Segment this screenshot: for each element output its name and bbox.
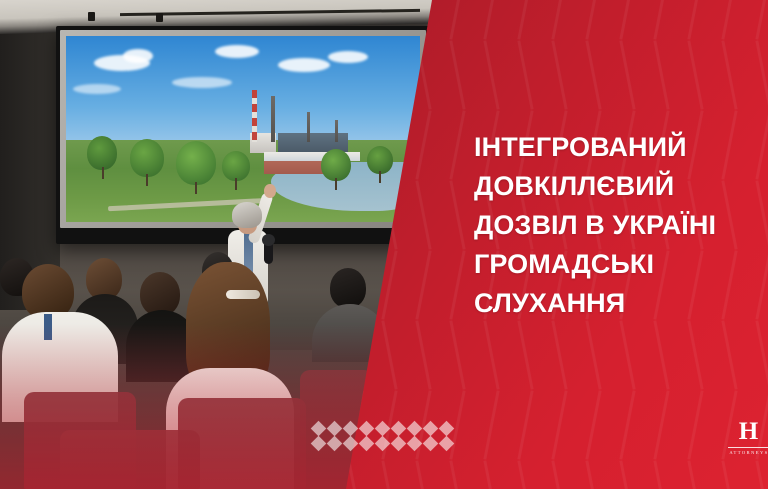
- chevron-stroke: [653, 0, 669, 40]
- chair: [178, 398, 306, 489]
- diamond-icon: [438, 421, 454, 437]
- diamond-icon: [342, 436, 358, 452]
- page-title-line-1: ІНТЕГРОВАНИЙ: [474, 128, 768, 167]
- chevron-stroke: [755, 460, 768, 489]
- chevron-stroke: [619, 40, 635, 109]
- logo-subtitle: ATTORNEYS: [726, 450, 768, 455]
- chevron-stroke: [755, 40, 768, 109]
- chevron-stroke: [653, 390, 669, 459]
- smokestack-tiny: [335, 120, 338, 142]
- diamond-icon: [390, 436, 406, 452]
- chevron-stroke: [551, 320, 567, 389]
- audience-lanyard: [44, 314, 52, 340]
- chevron-stroke: [483, 390, 499, 459]
- diamond-icon: [310, 421, 326, 437]
- chevron-stroke: [415, 250, 431, 319]
- chevron-stroke: [585, 0, 601, 40]
- chevron-stroke: [585, 460, 601, 489]
- tree: [321, 149, 351, 181]
- brand-logo: H ATTORNEYS: [726, 419, 768, 455]
- logo-divider: [728, 447, 768, 448]
- tree: [130, 139, 164, 177]
- page-title-line-2: ДОВКІЛЛЄВИЙ: [474, 167, 768, 206]
- diamond-icon: [374, 421, 390, 437]
- diamond-icon: [310, 436, 326, 452]
- chevron-stroke: [721, 0, 737, 40]
- chevron-stroke: [653, 460, 669, 489]
- chevron-stroke: [721, 320, 737, 389]
- diamond-decoration: [310, 421, 454, 451]
- diamond-icon: [406, 436, 422, 452]
- diamond-icon: [326, 436, 342, 452]
- chevron-stroke: [619, 460, 635, 489]
- chevron-stroke: [585, 40, 601, 109]
- presenter-hand: [264, 184, 276, 198]
- page-title-line-3: ДОЗВІЛ В УКРАЇНІ: [474, 206, 768, 245]
- diamond-icon: [438, 436, 454, 452]
- chevron-stroke: [687, 390, 703, 459]
- chevron-stroke: [381, 460, 397, 489]
- chevron-stroke: [755, 320, 768, 389]
- chevron-stroke: [483, 320, 499, 389]
- chevron-stroke: [449, 320, 465, 389]
- chevron-stroke: [517, 390, 533, 459]
- cloud-icon: [172, 77, 232, 88]
- audience-head: [330, 268, 366, 308]
- chevron-stroke: [551, 460, 567, 489]
- presenter-hair: [232, 202, 262, 228]
- chevron-stroke: [381, 320, 397, 389]
- page-title: ІНТЕГРОВАНИЙДОВКІЛЛЄВИЙДОЗВІЛ В УКРАЇНІГ…: [474, 128, 768, 322]
- screen-content-industrial-plant: [66, 36, 420, 222]
- chevron-stroke: [517, 0, 533, 40]
- chevron-stroke: [585, 390, 601, 459]
- chevron-stroke: [585, 320, 601, 389]
- page-title-line-4: ГРОМАДСЬКІ: [474, 245, 768, 284]
- diamond-icon: [326, 421, 342, 437]
- chevron-stroke: [449, 0, 465, 40]
- chevron-stroke: [517, 40, 533, 109]
- chevron-stroke: [619, 0, 635, 40]
- chevron-stroke: [449, 460, 465, 489]
- conference-banner: ІНТЕГРОВАНИЙДОВКІЛЛЄВИЙДОЗВІЛ В УКРАЇНІГ…: [0, 0, 768, 489]
- tree: [367, 146, 393, 174]
- diamond-icon: [406, 421, 422, 437]
- chevron-stroke: [415, 460, 431, 489]
- chevron-stroke: [415, 110, 431, 179]
- smokestack-small: [307, 112, 310, 142]
- chevron-stroke: [551, 390, 567, 459]
- chevron-stroke: [721, 460, 737, 489]
- logo-monogram: H: [726, 419, 768, 444]
- chevron-stroke: [619, 320, 635, 389]
- hair-clip: [226, 290, 260, 299]
- chevron-stroke: [687, 40, 703, 109]
- diamond-icon: [390, 421, 406, 437]
- chevron-stroke: [551, 40, 567, 109]
- rail-mount-right: [156, 13, 163, 22]
- diamond-icon: [422, 436, 438, 452]
- chevron-stroke: [415, 320, 431, 389]
- chevron-stroke: [483, 40, 499, 109]
- chevron-stroke: [449, 180, 465, 249]
- tree: [176, 141, 216, 185]
- diamond-icon: [342, 421, 358, 437]
- chevron-stroke: [517, 460, 533, 489]
- chevron-stroke: [619, 390, 635, 459]
- chevron-stroke: [517, 320, 533, 389]
- chevron-stroke: [653, 320, 669, 389]
- diamond-icon: [422, 421, 438, 437]
- chevron-stroke: [755, 0, 768, 40]
- chevron-stroke: [687, 320, 703, 389]
- smokestack-grey: [271, 96, 275, 142]
- cloud-icon: [123, 49, 153, 63]
- chevron-stroke: [449, 40, 465, 109]
- diamond-icon: [358, 436, 374, 452]
- microphone-head: [262, 234, 275, 246]
- chevron-stroke: [415, 180, 431, 249]
- smokestack-striped: [252, 90, 257, 142]
- diamond-icon: [358, 421, 374, 437]
- chevron-stroke: [483, 460, 499, 489]
- chevron-stroke: [687, 460, 703, 489]
- chevron-stroke: [449, 250, 465, 319]
- chevron-stroke: [551, 0, 567, 40]
- page-title-line-5: СЛУХАННЯ: [474, 284, 768, 323]
- diamond-icon: [374, 436, 390, 452]
- chevron-stroke: [687, 0, 703, 40]
- cloud-icon: [328, 51, 368, 63]
- chevron-stroke: [653, 40, 669, 109]
- chevron-stroke: [449, 110, 465, 179]
- chevron-stroke: [721, 40, 737, 109]
- tree: [222, 151, 250, 181]
- rail-mount-left: [88, 12, 95, 21]
- tree: [87, 136, 117, 170]
- chevron-stroke: [483, 0, 499, 40]
